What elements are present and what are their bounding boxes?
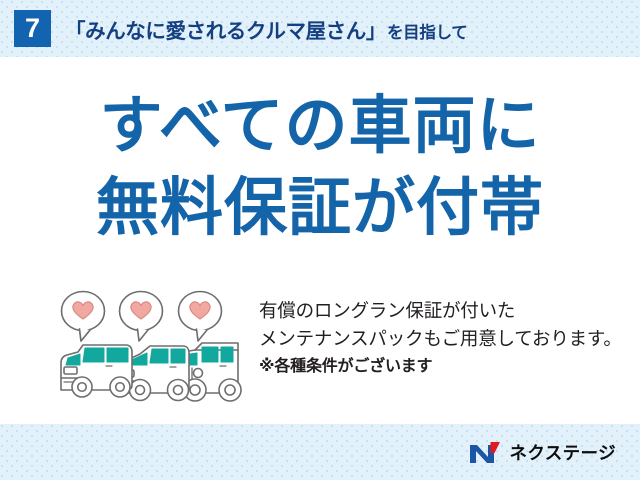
body-copy: 有償のロングラン保証が付いた メンテナンスパックもご用意しております。 ※各種条… bbox=[259, 297, 634, 380]
body-line-1: 有償のロングラン保証が付いた bbox=[259, 297, 634, 325]
body-line-2: メンテナンスパックもご用意しております。 bbox=[259, 325, 634, 353]
header-title: 「みんなに愛されるクルマ屋さん」 を目指して bbox=[65, 14, 468, 44]
promo-banner: 7 「みんなに愛されるクルマ屋さん」 を目指して すべての車両に 無料保証が付帯 bbox=[0, 0, 640, 480]
car-kei-wagon bbox=[61, 345, 132, 397]
headline-line-1: すべての車両に bbox=[0, 95, 640, 158]
content-row: 有償のロングラン保証が付いた メンテナンスパックもご用意しております。 ※各種条… bbox=[0, 287, 640, 407]
header-title-suffix: を目指して bbox=[387, 19, 468, 43]
body-line-note: ※各種条件がございます bbox=[259, 355, 634, 379]
heart-bubble-1 bbox=[62, 292, 105, 342]
banner-header: 7 「みんなに愛されるクルマ屋さん」 を目指して bbox=[0, 0, 640, 57]
headline-line-2: 無料保証が付帯 bbox=[0, 177, 640, 240]
section-number-badge: 7 bbox=[14, 10, 51, 47]
brand-logo: ネクステージ bbox=[468, 439, 616, 465]
cars-illustration-svg bbox=[52, 287, 247, 402]
brand-name: ネクステージ bbox=[509, 440, 616, 465]
heart-bubble-3 bbox=[179, 292, 222, 342]
nextage-n-logo-icon bbox=[468, 439, 502, 465]
cars-illustration bbox=[52, 287, 247, 402]
main-headline: すべての車両に 無料保証が付帯 bbox=[0, 95, 640, 240]
heart-bubble-2 bbox=[120, 292, 163, 342]
banner-footer: ネクステージ bbox=[0, 424, 640, 480]
header-title-quoted: 「みんなに愛されるクルマ屋さん」 bbox=[65, 14, 386, 44]
